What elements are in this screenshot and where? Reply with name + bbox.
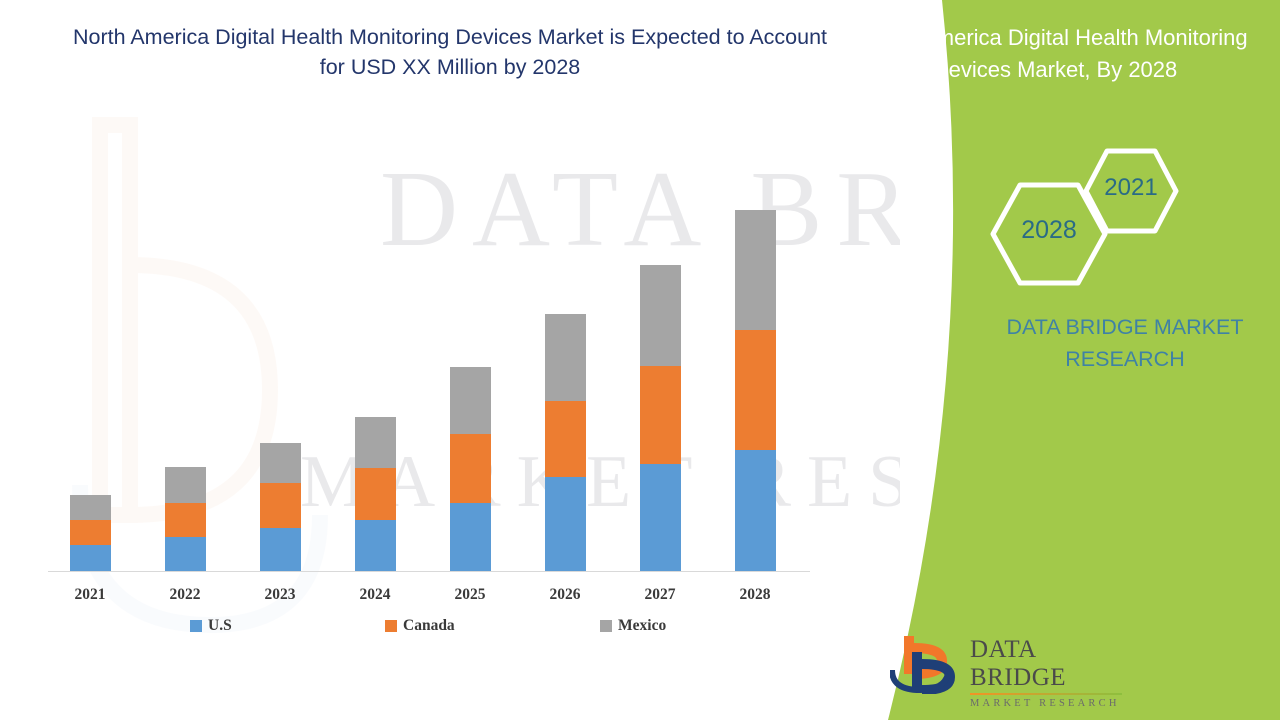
x-axis-tick-label: 2025 <box>430 586 510 604</box>
logo-company-name: DATA BRIDGE <box>970 636 1130 692</box>
bar-column <box>735 210 776 571</box>
hexagon-label-2028: 2028 <box>990 216 1108 245</box>
x-axis-tick-label: 2026 <box>525 586 605 604</box>
logo-wordmark: DATA BRIDGE MARKET RESEARCH <box>970 636 1130 710</box>
bar-segment-canada <box>355 468 396 520</box>
logo-tagline: MARKET RESEARCH <box>970 697 1130 710</box>
bar-segment-canada <box>735 330 776 450</box>
legend-item-mexico[interactable]: Mexico <box>600 617 666 635</box>
bar-segment-us <box>640 464 681 571</box>
legend-label: Canada <box>403 617 455 635</box>
chart-legend: U.SCanadaMexico <box>150 617 750 641</box>
legend-swatch-icon <box>190 620 202 632</box>
bar-column <box>70 495 111 571</box>
bar-segment-mexico <box>70 495 111 520</box>
bar-column <box>545 314 586 571</box>
bar-segment-canada <box>545 401 586 477</box>
legend-swatch-icon <box>385 620 397 632</box>
legend-label: Mexico <box>618 617 666 635</box>
databridge-logo-mark-icon <box>890 630 962 694</box>
bar-segment-us <box>545 477 586 571</box>
x-axis-tick-label: 2023 <box>240 586 320 604</box>
bar-segment-mexico <box>640 265 681 366</box>
stacked-bar-chart: 20212022202320242025202620272028 <box>0 0 860 640</box>
x-axis-line <box>48 571 810 572</box>
x-axis-tick-label: 2024 <box>335 586 415 604</box>
x-axis-tick-label: 2027 <box>620 586 700 604</box>
bar-column <box>165 467 206 571</box>
left-chart-panel: DATA BRIDGE MARKET RESEARCH North Americ… <box>0 0 900 720</box>
bar-segment-mexico <box>450 367 491 434</box>
right-panel-title: North America Digital Health Monitoring … <box>845 22 1265 86</box>
bar-segment-us <box>165 537 206 571</box>
bar-segment-canada <box>450 434 491 503</box>
bar-segment-canada <box>260 483 301 528</box>
bar-segment-canada <box>640 366 681 464</box>
bar-column <box>355 417 396 571</box>
bar-segment-us <box>260 528 301 571</box>
bar-column <box>640 265 681 571</box>
x-axis-tick-label: 2022 <box>145 586 225 604</box>
hexagon-badge-2028: 2028 <box>990 182 1108 286</box>
x-axis-tick-label: 2028 <box>715 586 795 604</box>
bar-segment-mexico <box>165 467 206 503</box>
bar-column <box>260 443 301 571</box>
bar-segment-us <box>735 450 776 571</box>
bar-segment-us <box>355 520 396 571</box>
bar-segment-mexico <box>735 210 776 330</box>
bar-segment-us <box>70 545 111 571</box>
bar-segment-mexico <box>545 314 586 401</box>
bar-segment-us <box>450 503 491 571</box>
bar-segment-canada <box>165 503 206 537</box>
legend-label: U.S <box>208 617 232 635</box>
logo-divider <box>970 693 1122 695</box>
bar-segment-canada <box>70 520 111 545</box>
legend-item-canada[interactable]: Canada <box>385 617 455 635</box>
x-axis-tick-label: 2021 <box>50 586 130 604</box>
bar-segment-mexico <box>355 417 396 468</box>
company-logo: DATA BRIDGE MARKET RESEARCH <box>890 630 1120 700</box>
brand-name-text: DATA BRIDGE MARKET RESEARCH <box>975 311 1275 375</box>
chart-plot-area <box>0 0 860 640</box>
legend-swatch-icon <box>600 620 612 632</box>
bar-column <box>450 367 491 571</box>
legend-item-us[interactable]: U.S <box>190 617 232 635</box>
bar-segment-mexico <box>260 443 301 483</box>
